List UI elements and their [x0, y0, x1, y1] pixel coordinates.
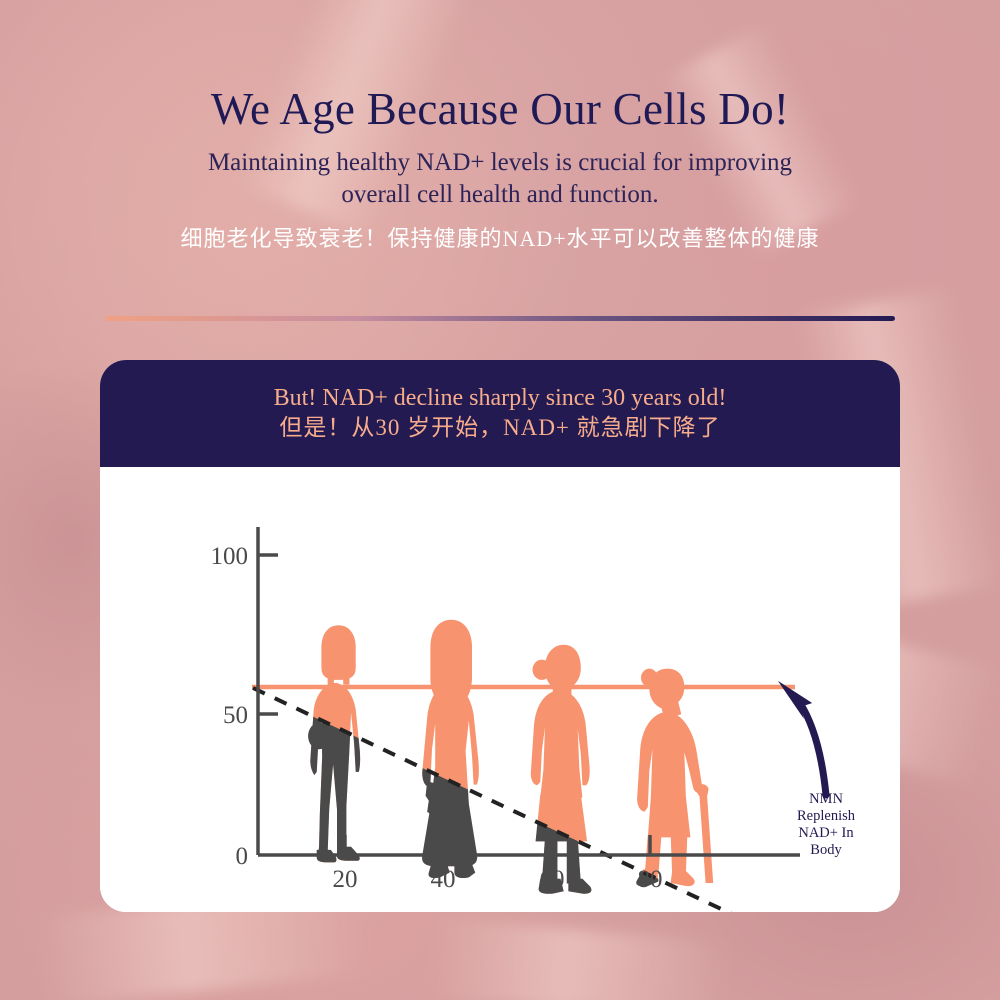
card-banner: But! NAD+ decline sharply since 30 years… — [100, 360, 900, 467]
y-tick-label-50: 50 — [223, 702, 248, 729]
banner-text-chinese: 但是！从30 岁开始，NAD+ 就急剧下降了 — [279, 413, 720, 443]
page-title: We Age Because Our Cells Do! — [0, 86, 1000, 133]
page-subtitle: Maintaining healthy NAD+ levels is cruci… — [0, 147, 1000, 211]
x-tick-label-20: 20 — [333, 866, 358, 893]
page-subtitle-line-1: Maintaining healthy NAD+ levels is cruci… — [0, 147, 1000, 179]
nmn-annotation-line-4: Body — [810, 842, 842, 858]
y-tick-label-100: 100 — [211, 543, 249, 570]
page-subtitle-chinese: 细胞老化导致衰老！保持健康的NAD+水平可以改善整体的健康 — [0, 225, 1000, 254]
nad-decline-chart: 100 50 0 20 40 60 80 NMN Replenish NAD+ … — [100, 467, 900, 912]
chart-plot-background — [100, 467, 900, 912]
chart-card: But! NAD+ decline sharply since 30 years… — [100, 360, 900, 912]
x-tick-label-80: 80 — [638, 866, 663, 893]
banner-text-english: But! NAD+ decline sharply since 30 years… — [274, 384, 727, 413]
y-tick-label-0: 0 — [236, 843, 249, 870]
page-subtitle-line-2: overall cell health and function. — [0, 179, 1000, 211]
nmn-annotation-line-2: Replenish — [797, 808, 856, 824]
x-tick-label-40: 40 — [431, 866, 456, 893]
nmn-annotation-line-3: NAD+ In — [798, 825, 854, 841]
nmn-annotation-line-1: NMN — [809, 791, 843, 807]
header: We Age Because Our Cells Do! Maintaining… — [0, 86, 1000, 254]
header-divider — [105, 316, 895, 321]
x-tick-label-60: 60 — [540, 866, 565, 893]
